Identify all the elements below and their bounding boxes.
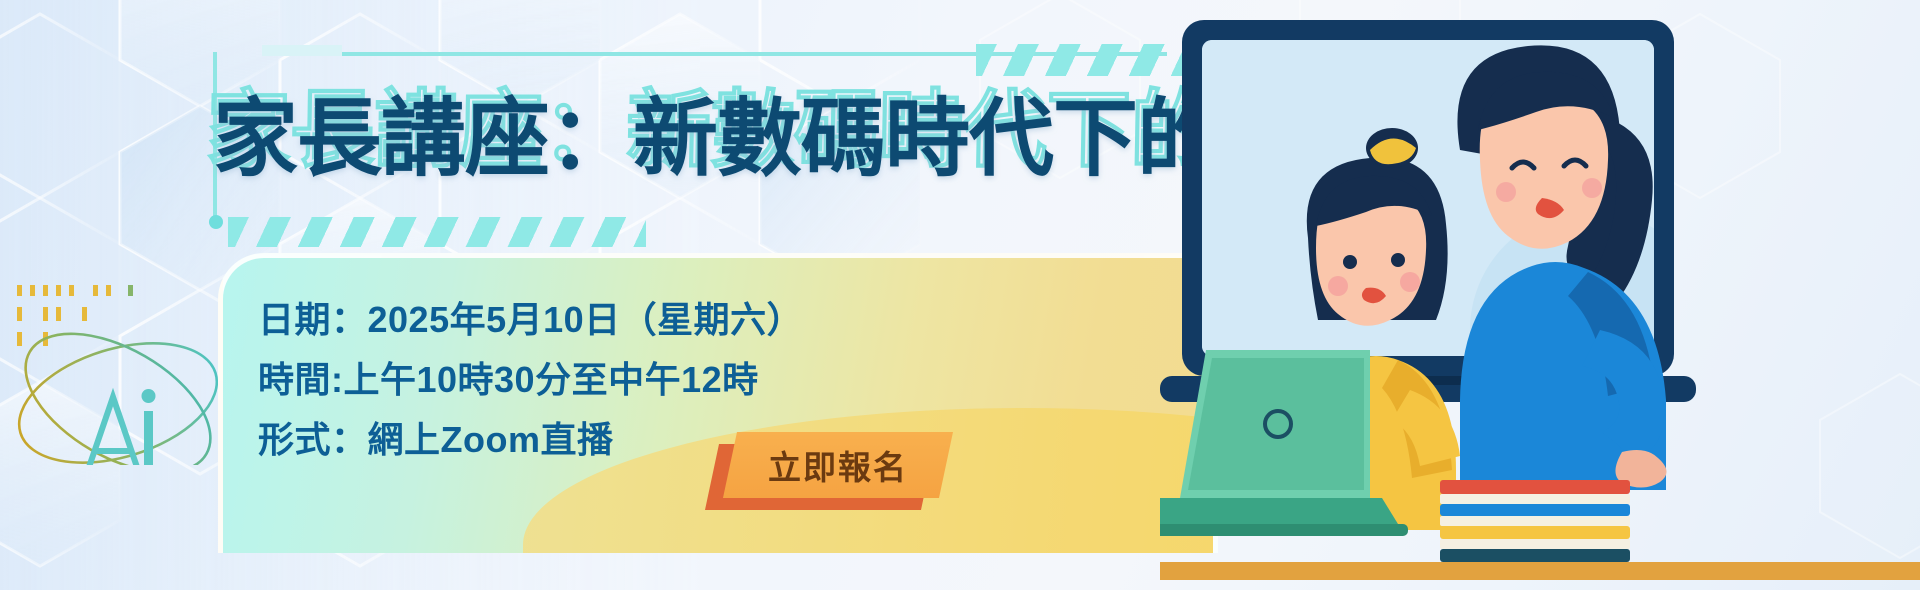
register-now-button[interactable]: 立即報名 (712, 432, 942, 510)
promo-banner: 家長講座：新數碼時代下的青少年成長 家長講座：新數碼時代下的青少年成長 日期：2… (0, 0, 1920, 590)
info-line-time: 時間:上午10時30分至中午12時 (258, 350, 803, 410)
ai-logo-mark (10, 285, 220, 465)
laptop-family-illustration (1160, 0, 1920, 590)
info-line-date: 日期：2025年5月10日（星期六） (258, 290, 803, 350)
cta-label: 立即報名 (730, 432, 946, 498)
diagonal-stripes-bottom (228, 217, 646, 247)
title-rule-dot (209, 215, 223, 229)
book-stack (1440, 480, 1630, 562)
title-rule-notch (262, 45, 342, 56)
